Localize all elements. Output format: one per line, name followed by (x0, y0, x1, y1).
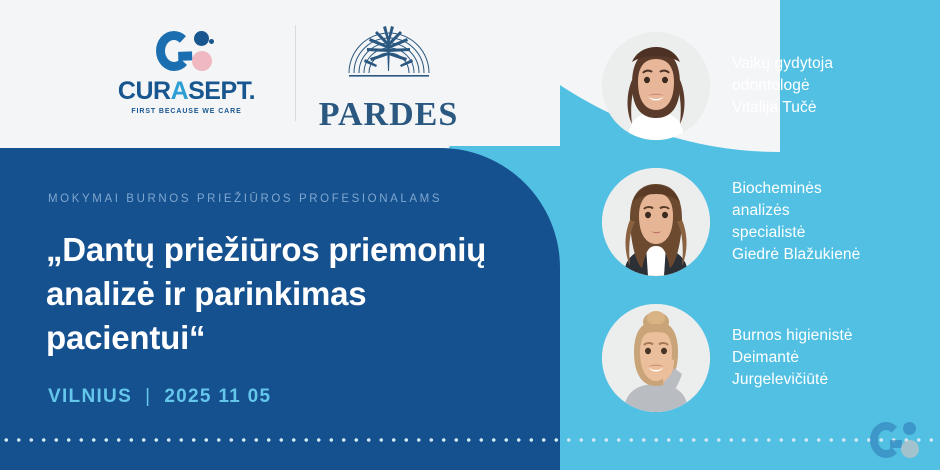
curasept-logo: CURASEPT. FIRST BECAUSE WE CARE (97, 31, 277, 115)
event-location: VILNIUS (48, 386, 132, 408)
pardes-logo: PARDES (314, 15, 464, 132)
logo-divider (295, 25, 296, 121)
curasept-c-shape-icon (155, 30, 192, 71)
speaker-description: Burnos higienistė Deimantė Jurgelevičiūt… (732, 325, 853, 391)
speaker-description: Vaikų gydytoja odontologė Vitalija Tučė (732, 53, 833, 119)
watermark-c-shape-icon (870, 422, 902, 458)
curasept-small-dot-icon (209, 39, 214, 44)
speaker-photo-giedre-blazukiene (602, 168, 710, 276)
eyebrow-text: MOKYMAI BURNOS PRIEŽIŪROS PROFESIONALAMS (48, 193, 442, 205)
curasept-navy-dot-icon (194, 31, 209, 46)
curasept-pink-dot-icon (192, 51, 212, 71)
event-details-separator: | (145, 386, 151, 408)
curasept-mark-icon (156, 31, 218, 71)
page-title: „Dantų priežiūros priemonių analizė ir p… (46, 228, 526, 361)
speaker-photo-vitalija-tuce (602, 32, 710, 140)
watermark-dot-top-icon (903, 422, 916, 435)
pardes-tree-icon (341, 15, 437, 96)
event-details: VILNIUS | 2025 11 05 (48, 386, 271, 408)
list-item: Biocheminės analizės specialistė Giedrė … (602, 168, 860, 276)
list-item: Burnos higienistė Deimantė Jurgelevičiūt… (602, 304, 853, 412)
event-date: 2025 11 05 (164, 386, 271, 408)
list-item: Vaikų gydytoja odontologė Vitalija Tučė (602, 32, 833, 140)
speaker-photo-deimante-jurgeleviciute (602, 304, 710, 412)
event-promo-banner: CURASEPT. FIRST BECAUSE WE CARE (0, 0, 940, 470)
speaker-list: Vaikų gydytoja odontologė Vitalija Tučė (602, 20, 940, 440)
curasept-wordmark-part2: A (171, 77, 189, 105)
curasept-wordmark-part3: SEPT. (188, 77, 255, 105)
curasept-wordmark-part1: CUR (118, 77, 171, 105)
logo-bar: CURASEPT. FIRST BECAUSE WE CARE (0, 0, 560, 146)
curasept-wordmark: CURASEPT. (118, 79, 255, 104)
watermark-dot-bottom-icon (901, 440, 919, 458)
speaker-description: Biocheminės analizės specialistė Giedrė … (732, 178, 860, 266)
pardes-wordmark: PARDES (319, 98, 459, 132)
curasept-tagline: FIRST BECAUSE WE CARE (131, 108, 241, 115)
curasept-watermark-icon (870, 422, 924, 458)
